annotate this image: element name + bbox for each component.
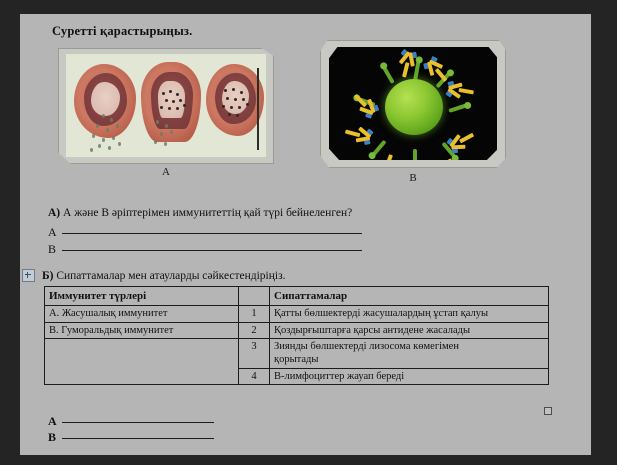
answer-letter: А: [48, 414, 62, 429]
question-b-answer-line-a[interactable]: А: [48, 414, 214, 429]
header-immunity-types: Иммунитет түрлері: [45, 287, 239, 306]
document-page: Суретті қарастырыңыз.: [20, 14, 591, 455]
answer-letter: В: [48, 430, 62, 445]
question-b: Б) Сипаттамалар мен атауларды сәйкестенд…: [42, 270, 286, 282]
virus-particle: [385, 79, 443, 135]
header-descriptions: Сипаттамалар: [270, 287, 549, 306]
desc-num-1: 1: [239, 306, 270, 322]
answer-rule[interactable]: [62, 422, 214, 423]
table-row: А. Жасушалық иммунитет 1 Қатты бөлшектер…: [45, 306, 549, 322]
type-cell-a: А. Жасушалық иммунитет: [45, 306, 239, 322]
type-cell-b: В. Гуморальдық иммунитет: [45, 322, 239, 338]
answer-rule[interactable]: [62, 233, 362, 234]
matching-table: Иммунитет түрлері Сипаттамалар А. Жасуша…: [44, 286, 549, 385]
desc-num-4: 4: [239, 368, 270, 384]
answer-letter: А: [48, 225, 62, 240]
figure-a: [58, 48, 274, 164]
table-resize-handle[interactable]: [544, 407, 552, 415]
answer-rule[interactable]: [62, 250, 362, 251]
question-a-answer-line-a[interactable]: А: [48, 225, 362, 240]
header-number: [239, 287, 270, 306]
desc-text-3-line2: қорытады: [274, 353, 544, 366]
antibody-5: [344, 127, 371, 142]
antibody-3: [425, 58, 449, 84]
question-a-marker: А): [48, 207, 60, 219]
type-cell-empty: [45, 338, 239, 384]
question-a: А) А және В әріптерімен иммунитеттің қай…: [48, 207, 352, 219]
figure-a-caption: A: [58, 166, 274, 178]
question-a-answer-line-b[interactable]: В: [48, 242, 362, 257]
figure-a-image: [66, 54, 266, 157]
question-b-text: Сипаттамалар мен атауларды сәйкестендірі…: [56, 270, 285, 282]
expand-plus-icon[interactable]: [22, 269, 35, 282]
antibody-2: [399, 51, 414, 78]
figure-b-image: [329, 47, 497, 160]
desc-text-1: Қатты бөлшектерді жасушалардың ұстап қал…: [270, 306, 549, 322]
desc-num-3: 3: [239, 338, 270, 368]
question-a-text: А және В әріптерімен иммунитеттің қай тү…: [63, 207, 352, 219]
table-row: В. Гуморальдық иммунитет 2 Қоздырғыштарғ…: [45, 322, 549, 338]
desc-text-4: В-лимфоциттер жауап береді: [270, 368, 549, 384]
table-header-row: Иммунитет түрлері Сипаттамалар: [45, 287, 549, 306]
antibody-4: [447, 84, 474, 97]
desc-text-3-line1: Зиянды бөлшектерді лизосома көмегімен: [274, 340, 544, 353]
table-row: 3 Зиянды бөлшектерді лизосома көмегімен …: [45, 338, 549, 368]
figure-b-caption: B: [320, 172, 506, 184]
answer-rule[interactable]: [62, 438, 214, 439]
antibody-7: [378, 153, 395, 160]
page-title: Суретті қарастырыңыз.: [52, 24, 192, 39]
antibody-6: [448, 131, 475, 151]
tissue-section-1: [74, 64, 136, 138]
question-b-marker: Б): [42, 270, 53, 282]
desc-num-2: 2: [239, 322, 270, 338]
question-b-header: Б) Сипаттамалар мен атауларды сәйкестенд…: [22, 269, 286, 282]
answer-letter: В: [48, 242, 62, 257]
desc-text-2: Қоздырғыштарға қарсы антидене жасалады: [270, 322, 549, 338]
question-b-answer-line-b[interactable]: В: [48, 430, 214, 445]
figure-b: [320, 40, 506, 168]
desc-text-3: Зиянды бөлшектерді лизосома көмегімен қо…: [270, 338, 549, 368]
